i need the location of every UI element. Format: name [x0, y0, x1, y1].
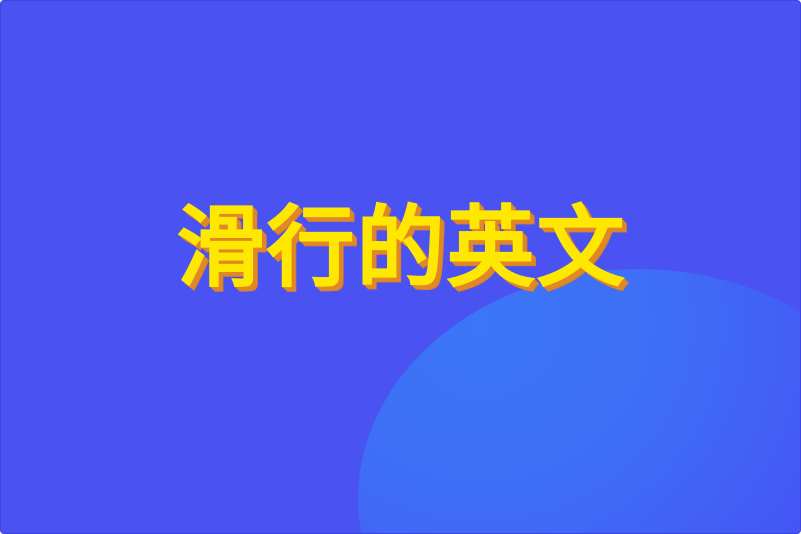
slide-canvas: 滑行的英文 [0, 0, 801, 534]
slide-title: 滑行的英文 [176, 204, 626, 292]
title-container: 滑行的英文 [1, 1, 801, 534]
